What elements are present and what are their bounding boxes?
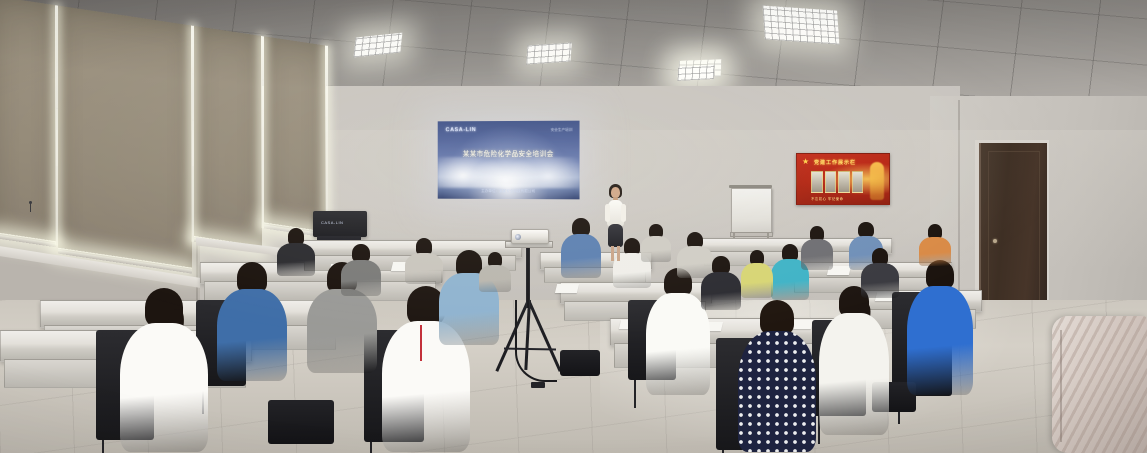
- slide-footer: 主办单位：某某安全科技有限公司: [438, 189, 580, 195]
- ceiling-light-5: [678, 65, 715, 81]
- presenter-leg-right: [617, 246, 620, 261]
- bag: [268, 400, 334, 444]
- slide-logo: CASA-LIN: [446, 127, 477, 133]
- lectern-logo: CASA-LIN: [321, 220, 343, 225]
- torso: [738, 331, 817, 452]
- chair-leg: [634, 380, 636, 408]
- presenter-arm-left: [605, 204, 610, 222]
- attendee-polkadot-dress: [736, 300, 818, 453]
- torso: [479, 265, 512, 292]
- blind-light-gap-4: [325, 45, 328, 217]
- attendee-orange-shirt: [918, 224, 952, 266]
- blind-light-gap-3: [261, 36, 264, 228]
- attendee-back-row-j: [640, 224, 672, 262]
- attendee-back-row-g: [800, 226, 834, 270]
- banner-subline: 不忘初心 牢记使命: [811, 196, 844, 201]
- attendee-back-row-h: [860, 248, 900, 298]
- banner-photo-strip: [811, 171, 863, 193]
- ceiling-light-2: [526, 42, 572, 64]
- presenter: [600, 184, 630, 262]
- attendee-back-row-c: [404, 238, 444, 284]
- attendee-royal-blue-right: [906, 260, 974, 396]
- torso: [819, 313, 888, 435]
- presenter-leg-left: [611, 246, 614, 261]
- roller-blind-3[interactable]: [194, 26, 262, 248]
- slide-cloud-graphic: [438, 157, 580, 188]
- torso: [307, 289, 376, 373]
- door-knob[interactable]: [993, 239, 997, 243]
- projector-lens-icon: [515, 234, 521, 240]
- attendee-back-row-i: [478, 252, 512, 292]
- torso: [561, 234, 601, 278]
- torso: [701, 272, 741, 310]
- attendee-yellow-shirt: [740, 250, 774, 298]
- slide-corner-text: 安全生产培训: [551, 128, 573, 133]
- presenter-skirt: [608, 224, 623, 247]
- torso: [861, 263, 899, 298]
- banner-gold-figure: [870, 162, 884, 200]
- attendee-white-tshirt-ponytail: [118, 288, 210, 453]
- bag: [560, 350, 600, 376]
- notebook-paper: [555, 284, 579, 293]
- attendee-plaid-blue: [560, 218, 602, 278]
- flipchart-whiteboard[interactable]: [731, 188, 772, 234]
- attendee-white-top-ponytail: [818, 286, 890, 436]
- slide-title: 某某市危险化学品安全培训会: [438, 148, 580, 158]
- blind-light-gap-1: [55, 5, 58, 245]
- torso: [907, 286, 972, 396]
- classroom-panorama-photo: CASA-LIN 安全生产培训 某某市危险化学品安全培训会 主办单位：某某安全科…: [0, 0, 1147, 453]
- projector[interactable]: [511, 229, 549, 244]
- tripod-column: [526, 246, 530, 308]
- head-hair: [760, 300, 794, 335]
- attendee-blue-shirt-front: [216, 262, 288, 382]
- ceiling-light-4: [763, 5, 840, 44]
- torso: [405, 253, 443, 284]
- torso: [341, 260, 381, 296]
- sofa-seam: [1060, 330, 1062, 442]
- door-panel: [988, 151, 1040, 325]
- lanyard: [420, 325, 422, 362]
- roller-blind-1[interactable]: [0, 0, 56, 243]
- chair-leg: [102, 440, 104, 453]
- blind-light-gap-2: [191, 25, 194, 241]
- attendee-back-row-a: [276, 228, 316, 276]
- patterned-sofa[interactable]: [1052, 316, 1147, 453]
- star-icon: ★: [802, 158, 810, 166]
- torso: [217, 289, 286, 381]
- head-hair: [237, 262, 267, 293]
- torso: [277, 243, 315, 276]
- torso: [741, 263, 774, 298]
- banner-headline: 党建工作展示栏: [814, 159, 856, 166]
- torso: [801, 239, 834, 270]
- projection-screen[interactable]: CASA-LIN 安全生产培训 某某市危险化学品安全培训会 主办单位：某某安全科…: [438, 121, 580, 200]
- roller-blind-2[interactable]: [58, 6, 192, 270]
- torso: [919, 237, 952, 266]
- attendee-back-row-f: [700, 256, 742, 310]
- attendee-back-row-b: [340, 244, 382, 296]
- red-wall-banner: ★ 党建工作展示栏 不忘初心 牢记使命: [796, 153, 890, 205]
- torso: [641, 236, 672, 262]
- chair-leg: [370, 442, 372, 453]
- projector-cable: [515, 300, 557, 382]
- projector-power-brick: [531, 382, 545, 388]
- lectern-microphone: [30, 203, 31, 212]
- torso: [120, 323, 208, 452]
- banner-photo: [811, 171, 823, 193]
- banner-photo: [825, 171, 837, 193]
- banner-photo: [838, 171, 850, 193]
- banner-photo: [852, 171, 864, 193]
- lectern[interactable]: CASA-LIN: [313, 211, 367, 237]
- roller-blind-4[interactable]: [264, 36, 326, 233]
- presenter-arm-right: [621, 204, 626, 222]
